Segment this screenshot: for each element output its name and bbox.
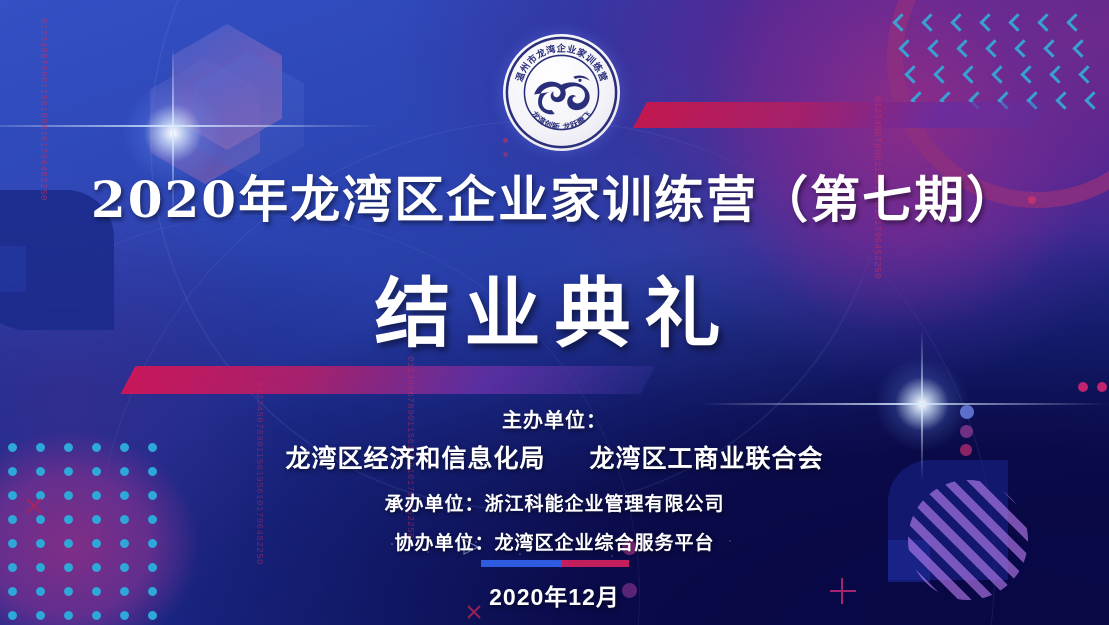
grid-dot	[120, 611, 129, 620]
grid-dot	[148, 611, 157, 620]
chevron-glyph	[1055, 91, 1073, 109]
divider-crimson-segment	[562, 560, 629, 567]
grid-dot	[8, 563, 17, 572]
chevron-glyph	[1049, 65, 1067, 83]
grid-dot	[148, 563, 157, 572]
chevron-glyph	[898, 39, 916, 57]
chevron-glyph	[921, 13, 939, 31]
chevron-glyph	[892, 13, 910, 31]
chevron-glyph	[985, 39, 1003, 57]
chevron-glyph	[1078, 65, 1096, 83]
chevron-glyph	[1014, 39, 1032, 57]
grid-dot	[8, 611, 17, 620]
chevron-glyph	[1066, 13, 1084, 31]
coorganizer-line: 协办单位：龙湾区企业综合服务平台	[0, 528, 1109, 555]
chevron-glyph	[979, 13, 997, 31]
event-date: 2020年12月	[0, 578, 1109, 612]
grid-dot	[120, 563, 129, 572]
page-title: 2020年龙湾区企业家训练营（第七期）	[0, 160, 1109, 232]
chevron-glyph	[991, 65, 1009, 83]
host-name-2: 龙湾区工商业联合会	[590, 439, 824, 475]
chevron-glyph	[1008, 13, 1026, 31]
crimson-band-middle-decor	[121, 366, 656, 394]
accent-dot	[503, 152, 508, 157]
chevron-glyph	[962, 65, 980, 83]
crimson-band-top-decor	[633, 102, 1047, 128]
chevron-glyph	[1026, 91, 1044, 109]
organizer-block: 主办单位： 龙湾区经济和信息化局 龙湾区工商业联合会 承办单位：浙江科能企业管理…	[0, 404, 1109, 555]
chevron-glyph	[927, 39, 945, 57]
hexagon-cube-decor	[150, 18, 310, 178]
logo-arc-bottom-text: 龙湾创新 龙跃腾飞	[529, 108, 593, 132]
chevron-glyph	[939, 91, 957, 109]
accent-dot	[1097, 382, 1107, 392]
chevron-glyph	[1043, 39, 1061, 57]
chevron-glyph	[1072, 39, 1090, 57]
lens-flare-streak-decor	[0, 125, 380, 127]
chevron-glyph	[950, 13, 968, 31]
grid-dot	[64, 563, 73, 572]
host-names: 龙湾区经济和信息化局 龙湾区工商业联合会	[0, 439, 1109, 475]
presentation-slide: 0123456789011561956101796452250 01234567…	[0, 0, 1109, 625]
divider-blue-segment	[481, 560, 562, 567]
chevron-glyph	[933, 65, 951, 83]
accent-dot	[1078, 382, 1088, 392]
chevron-glyph	[997, 91, 1015, 109]
chevron-glyph	[1020, 65, 1038, 83]
dragon-w-monogram	[534, 76, 590, 115]
organizer-line: 承办单位：浙江科能企业管理有限公司	[0, 489, 1109, 516]
grid-dot	[64, 611, 73, 620]
chevron-glyph	[904, 65, 922, 83]
organization-logo: 温州市龙湾企业家训练营 龙湾创新 龙跃腾飞	[503, 34, 620, 151]
host-label: 主办单位：	[0, 404, 1109, 433]
grid-dot	[92, 611, 101, 620]
page-subtitle: 结业典礼	[0, 252, 1109, 362]
chevron-pattern-decor	[895, 16, 1105, 126]
chevron-glyph	[910, 91, 928, 109]
chevron-glyph	[1037, 13, 1055, 31]
svg-text:龙湾创新 龙跃腾飞: 龙湾创新 龙跃腾飞	[529, 108, 593, 132]
grid-dot	[36, 563, 45, 572]
host-name-1: 龙湾区经济和信息化局	[285, 439, 545, 475]
chevron-glyph	[1084, 91, 1102, 109]
grid-dot	[92, 563, 101, 572]
chevron-glyph	[956, 39, 974, 57]
digit-strip-decor: 0123456789011561956101796452250	[38, 18, 48, 158]
divider-bar	[481, 560, 629, 567]
grid-dot	[36, 611, 45, 620]
chevron-glyph	[968, 91, 986, 109]
